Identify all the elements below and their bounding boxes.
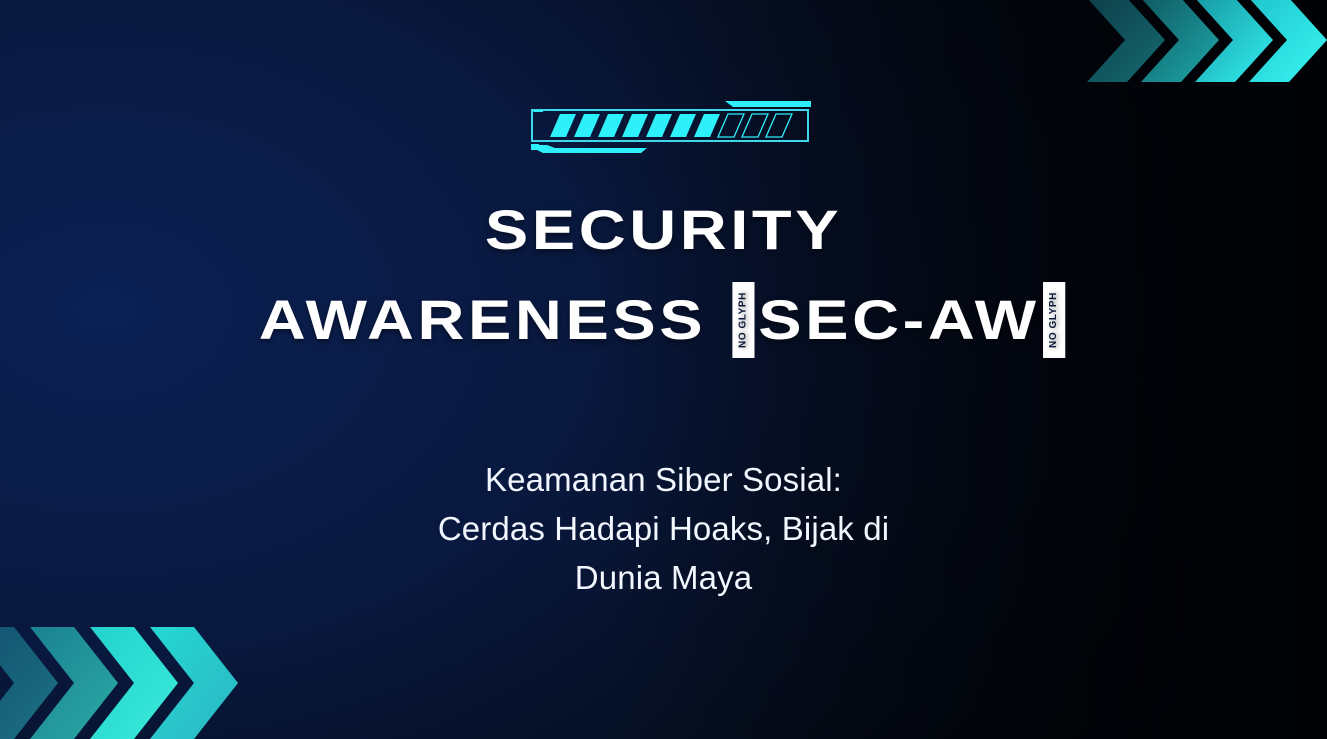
subtitle-line-2: Cerdas Hadapi Hoaks, Bijak di	[0, 504, 1327, 553]
slide-subtitle: Keamanan Siber Sosial: Cerdas Hadapi Hoa…	[0, 455, 1327, 602]
chevron-icon	[30, 627, 118, 739]
top-right-chevron-decoration	[1087, 0, 1327, 82]
chevron-icon	[90, 627, 178, 739]
title-word-sec-aw: SEC-AW	[758, 292, 1039, 348]
bottom-left-chevron-decoration	[0, 627, 238, 739]
subtitle-line-1: Keamanan Siber Sosial:	[0, 455, 1327, 504]
chevron-icon	[1195, 0, 1273, 82]
loading-progress-banner	[529, 101, 811, 153]
no-glyph-label: NO GLYPH	[739, 292, 749, 348]
subtitle-line-3: Dunia Maya	[0, 553, 1327, 602]
chevron-icon	[150, 627, 238, 739]
presentation-slide: SECURITY AWARENESS NO GLYPH SEC-AW NO GL…	[0, 0, 1327, 739]
chevron-icon	[1249, 0, 1327, 82]
title-word-awareness: AWARENESS	[259, 292, 707, 348]
chevron-icon	[1141, 0, 1219, 82]
no-glyph-box-right: NO GLYPH	[1043, 282, 1065, 358]
chevron-icon	[0, 627, 58, 739]
no-glyph-box-left: NO GLYPH	[733, 282, 755, 358]
chevron-icon	[1087, 0, 1165, 82]
no-glyph-label: NO GLYPH	[1049, 292, 1059, 348]
title-line-awareness: AWARENESS NO GLYPH SEC-AW NO GLYPH	[0, 277, 1327, 362]
title-line-security: SECURITY	[0, 202, 1327, 258]
slide-title: SECURITY AWARENESS NO GLYPH SEC-AW NO GL…	[0, 205, 1327, 358]
